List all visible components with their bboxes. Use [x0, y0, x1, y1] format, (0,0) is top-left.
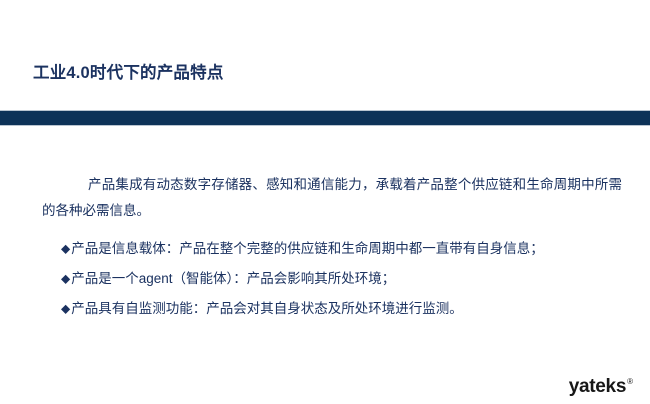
- list-item-label: 产品具有自监测功能：产品会对其自身状态及所处环境进行监测。: [71, 294, 622, 324]
- brand-logo: yateks ®: [569, 377, 633, 396]
- bullet-list: ◆ 产品是信息载体：产品在整个完整的供应链和生命周期中都一直带有自身信息； ◆ …: [42, 234, 622, 324]
- slide-body: 产品集成有动态数字存储器、感知和通信能力，承载着产品整个供应链和生命周期中所需的…: [42, 172, 622, 324]
- list-item: ◆ 产品是一个agent（智能体）：产品会影响其所处环境；: [61, 264, 622, 294]
- intro-paragraph: 产品集成有动态数字存储器、感知和通信能力，承载着产品整个供应链和生命周期中所需的…: [42, 172, 622, 224]
- brand-logo-wordmark: yateks: [569, 377, 626, 396]
- list-item: ◆ 产品是信息载体：产品在整个完整的供应链和生命周期中都一直带有自身信息；: [61, 234, 622, 264]
- slide-canvas: 工业4.0时代下的产品特点 产品集成有动态数字存储器、感知和通信能力，承载着产品…: [0, 0, 650, 404]
- title-accent-bar: [0, 110, 650, 126]
- diamond-bullet-icon: ◆: [61, 264, 70, 294]
- diamond-bullet-icon: ◆: [61, 294, 70, 324]
- registered-trademark-icon: ®: [627, 378, 633, 386]
- list-item-label: 产品是一个agent（智能体）：产品会影响其所处环境；: [71, 264, 622, 294]
- page-title: 工业4.0时代下的产品特点: [33, 64, 224, 84]
- diamond-bullet-icon: ◆: [61, 234, 70, 264]
- list-item: ◆ 产品具有自监测功能：产品会对其自身状态及所处环境进行监测。: [61, 294, 622, 324]
- list-item-label: 产品是信息载体：产品在整个完整的供应链和生命周期中都一直带有自身信息；: [71, 234, 622, 264]
